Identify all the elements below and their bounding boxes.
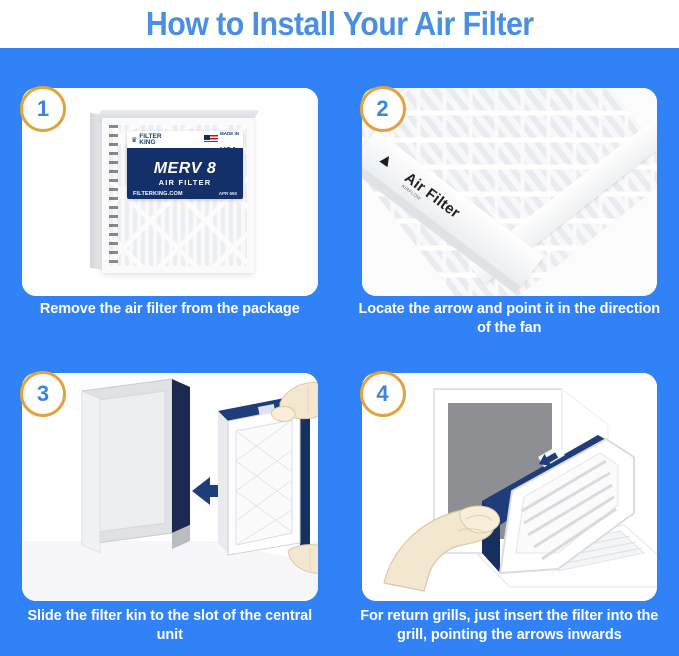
return-grill-illustration (362, 373, 658, 601)
step-card-1: ♛ FILTER KING (22, 88, 318, 296)
filter-label: ♛ FILTER KING (127, 131, 243, 199)
step-badge-1: 1 (20, 86, 66, 132)
page-title: How to Install Your Air Filter (146, 7, 534, 41)
crown-icon: ♛ (131, 136, 137, 144)
step-panel-1: ♛ FILTER KING (0, 48, 340, 345)
filter-corner-graphic: ▲ Air Filter AIRFLOW (362, 88, 658, 296)
filter-corner-photo: ▲ Air Filter AIRFLOW (362, 88, 658, 296)
step-badge-4: 4 (360, 371, 406, 417)
step-panel-2: ▲ Air Filter AIRFLOW 2 Locate the arrow … (340, 48, 679, 345)
merv-rating: MERV 8 (154, 160, 217, 177)
label-header-row: ♛ FILTER KING (127, 131, 243, 148)
step-caption-4: For return grills, just insert the filte… (354, 607, 666, 645)
usa-flag-icon (204, 135, 218, 144)
slide-filter-svg (22, 373, 318, 601)
step-card-4 (362, 373, 658, 601)
label-body: MERV 8 AIR FILTER FILTERKING.COM APR 650 (127, 148, 243, 199)
airflow-arrow-icon: ▲ (374, 148, 398, 172)
filter-product-photo: ♛ FILTER KING (22, 88, 318, 296)
new-filter-graphic (218, 395, 310, 559)
label-footer-row: FILTERKING.COM APR 650 (127, 191, 243, 197)
header-bar: How to Install Your Air Filter (0, 0, 679, 48)
step-card-3 (22, 373, 318, 601)
filter-edge-ribs (109, 125, 118, 266)
step-badge-2: 2 (360, 86, 406, 132)
filter-king-logo: ♛ FILTER KING (131, 134, 162, 146)
step-caption-2: Locate the arrow and point it in the dir… (354, 300, 666, 338)
filter-front-face: ♛ FILTER KING (102, 118, 254, 273)
air-filter-graphic: ♛ FILTER KING (90, 110, 260, 275)
apr-rating-text: APR 650 (219, 191, 237, 197)
made-in-text: MADE IN (220, 131, 239, 136)
step-panel-4: 4 For return grills, just insert the fil… (340, 345, 679, 656)
step-caption-3: Slide the filter kin to the slot of the … (14, 607, 326, 645)
steps-grid: ♛ FILTER KING (0, 48, 679, 656)
central-unit-slot (82, 379, 190, 553)
website-text: FILTERKING.COM (133, 191, 183, 197)
step-caption-1: Remove the air filter from the package (14, 300, 326, 319)
brand-line-2: KING (139, 139, 155, 146)
slide-filter-illustration (22, 373, 318, 601)
infographic-root: How to Install Your Air Filter (0, 0, 679, 656)
step-panel-3: 3 Slide the filter kin to the slot of th… (0, 345, 340, 656)
label-subtitle: AIR FILTER (159, 178, 212, 187)
return-grill-svg (362, 373, 658, 601)
step-card-2: ▲ Air Filter AIRFLOW (362, 88, 658, 296)
step-badge-3: 3 (20, 371, 66, 417)
